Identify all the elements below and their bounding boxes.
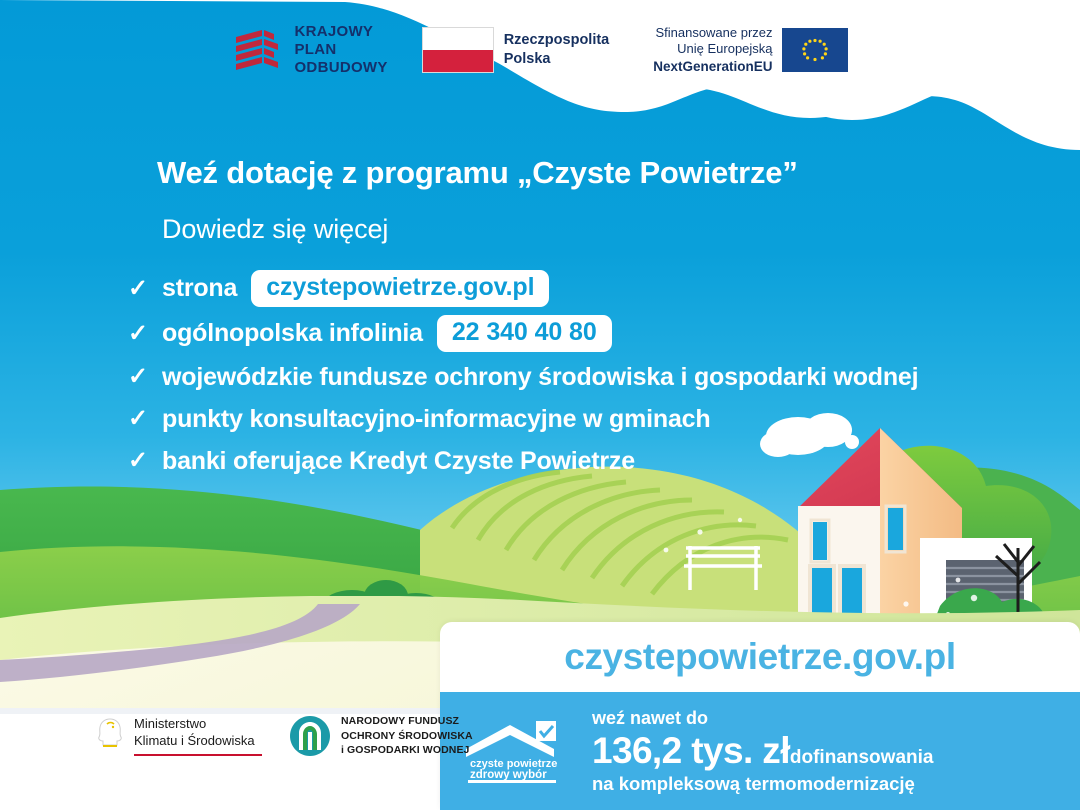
poland-line-1: Rzeczpospolita <box>504 31 610 50</box>
nfosigw-line-2: OCHRONY ŚRODOWISKA <box>341 729 473 743</box>
cta-url[interactable]: czystepowietrze.gov.pl <box>564 636 955 678</box>
ministry-line-2: Klimatu i Środowiska <box>134 733 262 750</box>
nfosigw-text: NARODOWY FUNDUSZ OCHRONY ŚRODOWISKA i GO… <box>341 714 473 757</box>
nfosigw-mark-icon <box>288 714 332 758</box>
poland-flag-icon <box>422 27 494 73</box>
page-subtitle: Dowiedz się więcej <box>162 214 388 245</box>
eu-logo-text: Sfinansowane przez Unię Europejską NextG… <box>653 25 772 76</box>
eu-line-3: NextGenerationEU <box>653 58 772 75</box>
bullet-label: ogólnopolska infolinia <box>162 319 423 348</box>
list-item: ✓ strona czystepowietrze.gov.pl <box>128 270 918 307</box>
list-item: ✓ ogólnopolska infolinia 22 340 40 80 <box>128 315 918 352</box>
top-logo-bar: KRAJOWY PLAN ODBUDOWY Rzeczpospolita Pol… <box>0 0 1080 100</box>
eu-line-1: Sfinansowane przez <box>653 25 772 42</box>
svg-text:zdrowy wybór: zdrowy wybór <box>470 769 547 781</box>
contact-channel-list: ✓ strona czystepowietrze.gov.pl ✓ ogólno… <box>128 270 918 486</box>
cta-line-3: na kompleksową termomodernizację <box>592 773 933 795</box>
check-icon: ✓ <box>128 365 148 389</box>
cta-amount: 136,2 tys. zł <box>592 730 790 771</box>
polish-eagle-icon <box>95 716 125 750</box>
czyste-powietrze-logo-icon: czyste powietrze zdrowy wybór <box>462 719 570 783</box>
bullet-label: banki oferujące Kredyt Czyste Powietrze <box>162 447 635 476</box>
kpo-line-2: PLAN <box>294 41 387 59</box>
nfosigw-logo: NARODOWY FUNDUSZ OCHRONY ŚRODOWISKA i GO… <box>288 714 473 758</box>
ministry-line-1: Ministerstwo <box>134 716 262 733</box>
republic-of-poland-logo: Rzeczpospolita Polska <box>422 27 610 73</box>
cta-offer-bar: czyste powietrze zdrowy wybór weź nawet … <box>440 692 1080 810</box>
poland-line-2: Polska <box>504 50 610 69</box>
check-icon: ✓ <box>128 449 148 473</box>
kpo-line-3: ODBUDOWY <box>294 59 387 77</box>
kpo-line-1: KRAJOWY <box>294 23 387 41</box>
ministry-logo: Ministerstwo Klimatu i Środowiska <box>95 716 262 756</box>
check-icon: ✓ <box>128 322 148 346</box>
cta-copy: weź nawet do 136,2 tys. złdofinansowania… <box>592 707 933 795</box>
list-item: ✓ wojewódzkie fundusze ochrony środowisk… <box>128 360 918 394</box>
kpo-logo: KRAJOWY PLAN ODBUDOWY <box>232 23 387 78</box>
ministry-text: Ministerstwo Klimatu i Środowiska <box>134 716 262 756</box>
cta-line-1: weź nawet do <box>592 707 933 730</box>
eu-flag-icon <box>782 28 848 72</box>
bullet-label: punkty konsultacyjno-informacyjne w gmin… <box>162 405 710 434</box>
bullet-label: strona <box>162 274 237 303</box>
website-pill[interactable]: czystepowietrze.gov.pl <box>251 270 549 307</box>
footer-logos: Ministerstwo Klimatu i Środowiska NARODO… <box>95 714 473 758</box>
nfosigw-line-3: i GOSPODARKI WODNEJ <box>341 743 473 757</box>
bullet-label: wojewódzkie fundusze ochrony środowiska … <box>162 363 918 392</box>
poster-canvas: KRAJOWY PLAN ODBUDOWY Rzeczpospolita Pol… <box>0 0 1080 810</box>
cta-url-bar[interactable]: czystepowietrze.gov.pl <box>440 622 1080 692</box>
check-icon: ✓ <box>128 277 148 301</box>
page-title: Weź dotację z programu „Czyste Powietrze… <box>157 155 798 191</box>
eu-line-2: Unię Europejską <box>653 41 772 58</box>
list-item: ✓ banki oferujące Kredyt Czyste Powietrz… <box>128 444 918 478</box>
ministry-red-rule <box>134 754 262 757</box>
cta-amount-row: 136,2 tys. złdofinansowania <box>592 731 933 770</box>
eu-funding-logo: Sfinansowane przez Unię Europejską NextG… <box>653 25 847 76</box>
cta-panel: czystepowietrze.gov.pl czyste powietrze … <box>440 622 1080 810</box>
cta-amount-suffix: dofinansowania <box>790 747 934 768</box>
poland-logo-text: Rzeczpospolita Polska <box>504 31 610 69</box>
list-item: ✓ punkty konsultacyjno-informacyjne w gm… <box>128 402 918 436</box>
kpo-mark-icon <box>232 25 284 75</box>
nfosigw-line-1: NARODOWY FUNDUSZ <box>341 714 473 728</box>
phone-pill[interactable]: 22 340 40 80 <box>437 315 612 352</box>
kpo-logo-text: KRAJOWY PLAN ODBUDOWY <box>294 23 387 78</box>
check-icon: ✓ <box>128 407 148 431</box>
